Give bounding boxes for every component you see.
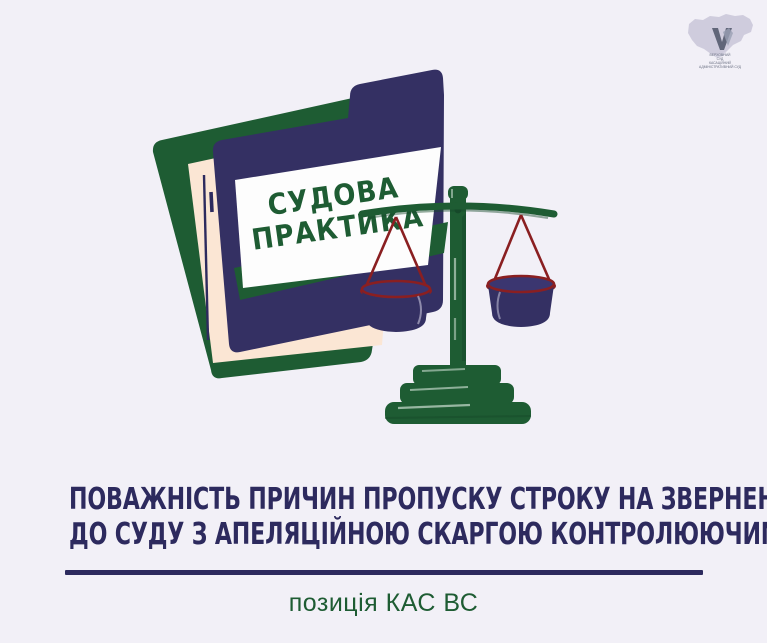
scales-base: [385, 365, 531, 424]
caption-subtitle: позиція КАС ВС: [0, 589, 767, 618]
poster-canvas: ВЕРХОВНИЙ СУД КАСАЦІЙНИЙ АДМІНІСТРАТИВНИ…: [0, 0, 767, 643]
illustration-area: СУДОВА ПРАКТИКА: [0, 0, 767, 470]
scales-column: [448, 186, 468, 368]
caption-divider: [65, 570, 703, 575]
headline-line-1: ПОВАЖНІСТЬ ПРИЧИН ПРОПУСКУ СТРОКУ НА ЗВЕ…: [69, 482, 698, 517]
scales-pan-right: [486, 215, 556, 327]
headline-line-2: ДО СУДУ З АПЕЛЯЦІЙНОЮ СКАРГОЮ КОНТРОЛЮЮЧ…: [69, 517, 698, 552]
caption-block: ПОВАЖНІСТЬ ПРИЧИН ПРОПУСКУ СТРОКУ НА ЗВЕ…: [0, 482, 767, 618]
